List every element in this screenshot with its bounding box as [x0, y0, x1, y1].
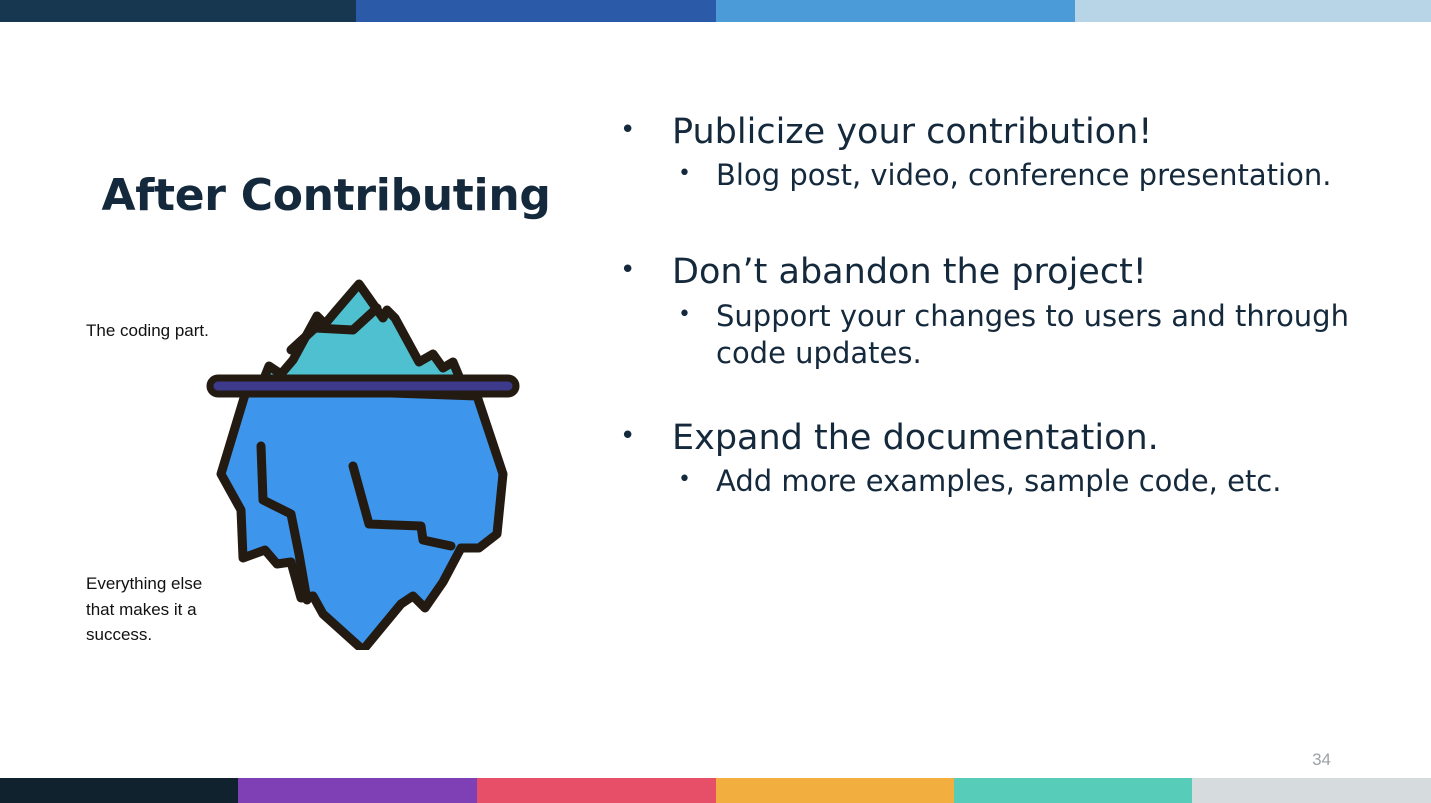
bottom-bar-segment-purple	[238, 778, 477, 803]
bullet-level2-text: Blog post, video, conference presentatio…	[716, 157, 1420, 194]
bullet-group-3: • Expand the documentation. • Add more e…	[620, 418, 1420, 500]
top-bar-segment-pale-blue	[1075, 0, 1431, 22]
top-decorative-bar	[0, 0, 1431, 22]
bullet-level1-item: • Expand the documentation.	[620, 418, 1420, 459]
top-bar-segment-medium-blue	[356, 0, 716, 22]
bottom-decorative-bar	[0, 778, 1431, 803]
top-bar-segment-dark-navy	[0, 0, 356, 22]
bullet-level2-item: • Blog post, video, conference presentat…	[678, 157, 1420, 194]
iceberg-label-below-water: Everything else that makes it a success.	[86, 571, 226, 648]
bullet-level2-item: • Add more examples, sample code, etc.	[678, 463, 1420, 500]
bullet-dot-icon: •	[620, 252, 672, 290]
page-number: 34	[1312, 750, 1331, 770]
bullet-level2-text: Add more examples, sample code, etc.	[716, 463, 1420, 500]
slide-title: After Contributing	[56, 172, 596, 220]
iceberg-tip	[261, 284, 463, 386]
iceberg-label-above-water: The coding part.	[86, 318, 256, 344]
top-bar-segment-light-blue	[716, 0, 1075, 22]
bullet-level1-text: Publicize your contribution!	[672, 112, 1420, 153]
bottom-bar-segment-dark-navy	[0, 778, 238, 803]
bullet-dot-icon: •	[620, 112, 672, 150]
bullet-level1-text: Expand the documentation.	[672, 418, 1420, 459]
bullet-group-1: • Publicize your contribution! • Blog po…	[620, 112, 1420, 194]
bullet-level2-text: Support your changes to users and throug…	[716, 298, 1420, 372]
sub-bullet-dot-icon: •	[678, 298, 716, 332]
iceberg-submerged-body	[221, 388, 503, 650]
bullet-level1-item: • Don’t abandon the project!	[620, 252, 1420, 293]
bullet-level1-text: Don’t abandon the project!	[672, 252, 1420, 293]
bottom-bar-segment-pink-red	[477, 778, 716, 803]
bullet-group-spacer	[620, 196, 1420, 252]
bullet-group-spacer	[620, 374, 1420, 418]
sub-bullet-dot-icon: •	[678, 463, 716, 497]
bullet-level2-item: • Support your changes to users and thro…	[678, 298, 1420, 372]
bottom-bar-segment-light-gray	[1192, 778, 1431, 803]
sub-bullet-dot-icon: •	[678, 157, 716, 191]
bullet-level1-item: • Publicize your contribution!	[620, 112, 1420, 153]
bullet-dot-icon: •	[620, 418, 672, 456]
bullet-content-column: • Publicize your contribution! • Blog po…	[620, 112, 1420, 502]
bottom-bar-segment-teal	[954, 778, 1192, 803]
bottom-bar-segment-orange	[716, 778, 954, 803]
bullet-group-2: • Don’t abandon the project! • Support y…	[620, 252, 1420, 372]
waterline-bar	[210, 378, 516, 394]
